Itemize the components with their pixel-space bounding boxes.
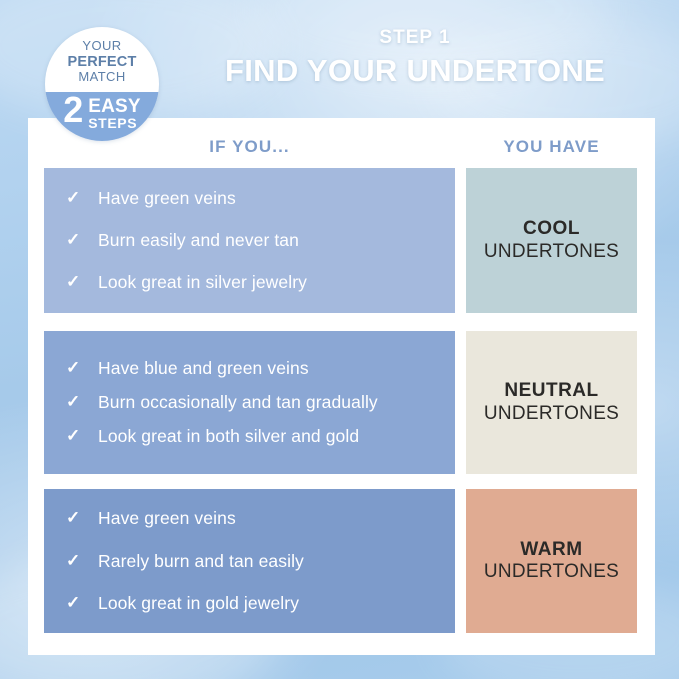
badge-step-count: 2 (63, 95, 83, 126)
checkmark-icon: ✓ (66, 271, 98, 293)
undertone-name: WARM (520, 539, 582, 561)
perfect-match-badge: YOUR PERFECT MATCH 2 EASY STEPS (45, 27, 159, 141)
page-header: STEP 1 FIND YOUR UNDERTONE (170, 28, 660, 88)
trait-item: ✓ Burn easily and never tan (66, 229, 439, 252)
undertone-sublabel: UNDERTONES (484, 403, 619, 425)
trait-text: Have green veins (98, 187, 439, 210)
row-gap (455, 489, 466, 633)
badge-word-easy: EASY (88, 97, 141, 116)
checkmark-icon: ✓ (66, 391, 98, 413)
row-gap (455, 331, 466, 474)
traits-panel: ✓ Have green veins ✓ Burn easily and nev… (44, 168, 455, 313)
badge-step-words: EASY STEPS (88, 95, 141, 130)
column-header-gap (455, 137, 466, 161)
undertone-row: ✓ Have green veins ✓ Rarely burn and tan… (44, 489, 637, 633)
undertone-sublabel: UNDERTONES (484, 561, 619, 583)
step-label: STEP 1 (170, 28, 660, 47)
infographic-canvas: STEP 1 FIND YOUR UNDERTONE YOUR PERFECT … (0, 0, 679, 679)
badge-line-2: PERFECT (67, 54, 136, 70)
row-gap (455, 168, 466, 313)
checkmark-icon: ✓ (66, 507, 98, 529)
undertone-swatch: WARM UNDERTONES (466, 489, 637, 633)
trait-text: Look great in silver jewelry (98, 271, 439, 294)
trait-item: ✓ Have green veins (66, 507, 439, 530)
trait-text: Have green veins (98, 507, 439, 530)
trait-text: Burn easily and never tan (98, 229, 439, 252)
undertone-name: COOL (523, 218, 580, 240)
undertone-swatch: COOL UNDERTONES (466, 168, 637, 313)
column-headers: IF YOU... YOU HAVE (44, 137, 637, 161)
undertone-sublabel: UNDERTONES (484, 241, 619, 263)
trait-text: Burn occasionally and tan gradually (98, 391, 439, 414)
column-header-you-have: YOU HAVE (466, 137, 637, 161)
badge-word-steps: STEPS (88, 116, 141, 130)
traits-panel: ✓ Have blue and green veins ✓ Burn occas… (44, 331, 455, 474)
checkmark-icon: ✓ (66, 229, 98, 251)
traits-panel: ✓ Have green veins ✓ Rarely burn and tan… (44, 489, 455, 633)
trait-item: ✓ Look great in silver jewelry (66, 271, 439, 294)
trait-item: ✓ Rarely burn and tan easily (66, 550, 439, 573)
checkmark-icon: ✓ (66, 187, 98, 209)
undertone-row: ✓ Have green veins ✓ Burn easily and nev… (44, 168, 637, 313)
trait-item: ✓ Burn occasionally and tan gradually (66, 391, 439, 414)
undertone-row: ✓ Have blue and green veins ✓ Burn occas… (44, 331, 637, 474)
checkmark-icon: ✓ (66, 357, 98, 379)
checkmark-icon: ✓ (66, 550, 98, 572)
badge-top-half: YOUR PERFECT MATCH (45, 27, 159, 92)
trait-item: ✓ Look great in both silver and gold (66, 425, 439, 448)
checkmark-icon: ✓ (66, 425, 98, 447)
trait-item: ✓ Look great in gold jewelry (66, 592, 439, 615)
trait-text: Look great in both silver and gold (98, 425, 439, 448)
undertone-swatch: NEUTRAL UNDERTONES (466, 331, 637, 474)
badge-line-3: MATCH (78, 70, 125, 85)
trait-text: Have blue and green veins (98, 357, 439, 380)
trait-item: ✓ Have green veins (66, 187, 439, 210)
undertone-name: NEUTRAL (504, 380, 598, 402)
trait-text: Rarely burn and tan easily (98, 550, 439, 573)
badge-line-1: YOUR (82, 39, 121, 54)
trait-text: Look great in gold jewelry (98, 592, 439, 615)
checkmark-icon: ✓ (66, 592, 98, 614)
page-title: FIND YOUR UNDERTONE (170, 55, 660, 88)
trait-item: ✓ Have blue and green veins (66, 357, 439, 380)
